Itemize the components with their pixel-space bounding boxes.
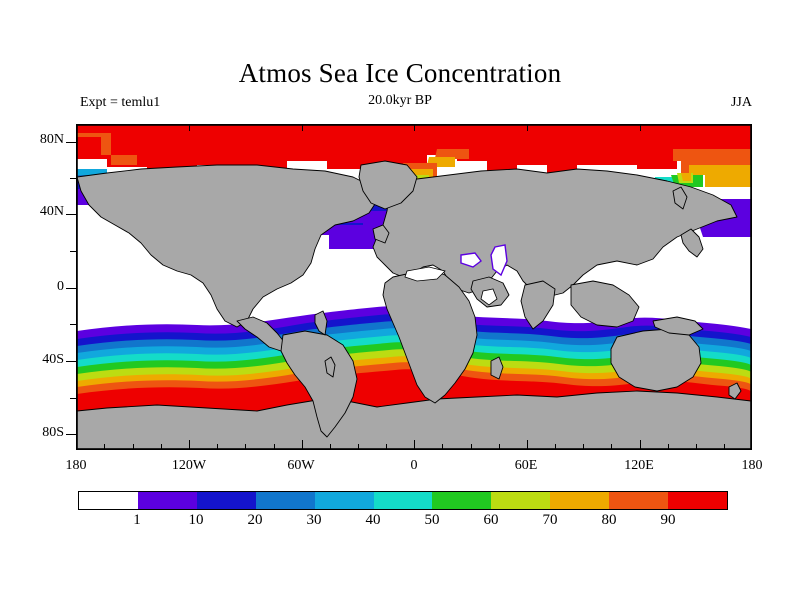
colorbar-band-5 xyxy=(374,492,433,509)
x-tick-135e xyxy=(668,444,669,450)
y-tick-label-40s: 40S xyxy=(18,352,64,368)
colorbar-label-20: 20 xyxy=(235,512,275,529)
y-tick-80n xyxy=(66,142,76,143)
top-tick-0 xyxy=(414,124,415,131)
colorbar-band-10 xyxy=(668,492,727,509)
x-tick-label-180w: 180 xyxy=(46,458,106,474)
colorbar-label-50: 50 xyxy=(412,512,452,529)
x-tick-75w xyxy=(274,444,275,450)
colorbar-label-40: 40 xyxy=(353,512,393,529)
x-tick-165w xyxy=(104,444,105,450)
experiment-label: Expt = temlu1 xyxy=(80,95,160,111)
y-tick-60s xyxy=(70,398,76,399)
x-tick-120w xyxy=(189,440,190,450)
sea-ice-map xyxy=(77,125,751,449)
y-tick-20s xyxy=(70,324,76,325)
x-tick-label-60e: 60E xyxy=(496,458,556,474)
y-tick-label-80n: 80N xyxy=(18,132,64,148)
x-tick-60w xyxy=(302,440,303,450)
colorbar-band-2 xyxy=(197,492,256,509)
colorbar-band-7 xyxy=(491,492,550,509)
y-tick-40s xyxy=(66,361,76,362)
x-tick-180e xyxy=(751,440,752,450)
y-tick-20n xyxy=(70,251,76,252)
x-tick-label-0: 0 xyxy=(384,458,444,474)
colorbar-label-70: 70 xyxy=(530,512,570,529)
colorbar-band-9 xyxy=(609,492,668,509)
x-tick-135w xyxy=(161,444,162,450)
x-tick-label-60w: 60W xyxy=(271,458,331,474)
y-tick-label-80s: 80S xyxy=(18,425,64,441)
colorbar-band-0 xyxy=(79,492,138,509)
colorbar-label-80: 80 xyxy=(589,512,629,529)
x-tick-75e xyxy=(555,444,556,450)
x-tick-165e xyxy=(724,444,725,450)
season-label: JJA xyxy=(731,95,752,111)
y-tick-label-0: 0 xyxy=(18,279,64,295)
y-tick-label-40n: 40N xyxy=(18,204,64,220)
top-tick-180w xyxy=(76,124,77,131)
colorbar-label-60: 60 xyxy=(471,512,511,529)
x-tick-105w xyxy=(217,444,218,450)
colorbar-band-1 xyxy=(138,492,197,509)
x-tick-30w xyxy=(358,444,359,450)
x-tick-label-180e: 180 xyxy=(722,458,782,474)
y-tick-80s xyxy=(66,434,76,435)
x-tick-15w xyxy=(386,444,387,450)
x-tick-15e xyxy=(442,444,443,450)
top-tick-60w xyxy=(302,124,303,131)
top-tick-120e xyxy=(640,124,641,131)
colorbar-band-6 xyxy=(432,492,491,509)
page-title: Atmos Sea Ice Concentration xyxy=(0,58,800,89)
x-tick-0 xyxy=(414,440,415,450)
colorbar-label-1: 1 xyxy=(117,512,157,529)
colorbar-label-90: 90 xyxy=(648,512,688,529)
x-tick-30e xyxy=(471,444,472,450)
colorbar-label-10: 10 xyxy=(176,512,216,529)
colorbar-band-3 xyxy=(256,492,315,509)
y-tick-0 xyxy=(66,288,76,289)
colorbar[interactable] xyxy=(78,491,728,510)
x-tick-90e xyxy=(583,444,584,450)
x-tick-60e xyxy=(527,440,528,450)
x-tick-90w xyxy=(245,444,246,450)
x-tick-150e xyxy=(696,444,697,450)
top-tick-120w xyxy=(189,124,190,131)
y-tick-60n xyxy=(70,178,76,179)
x-tick-120e xyxy=(640,440,641,450)
top-tick-60e xyxy=(527,124,528,131)
colorbar-band-4 xyxy=(315,492,374,509)
x-tick-45w xyxy=(330,444,331,450)
y-tick-40n xyxy=(66,214,76,215)
colorbar-label-30: 30 xyxy=(294,512,334,529)
x-tick-180w xyxy=(76,440,77,450)
map-plot-area xyxy=(76,124,752,450)
x-tick-45e xyxy=(499,444,500,450)
colorbar-band-8 xyxy=(550,492,609,509)
x-tick-150w xyxy=(133,444,134,450)
x-tick-105e xyxy=(611,444,612,450)
x-tick-label-120w: 120W xyxy=(159,458,219,474)
figure-canvas: Atmos Sea Ice Concentration 20.0kyr BP E… xyxy=(0,0,800,600)
x-tick-label-120e: 120E xyxy=(609,458,669,474)
